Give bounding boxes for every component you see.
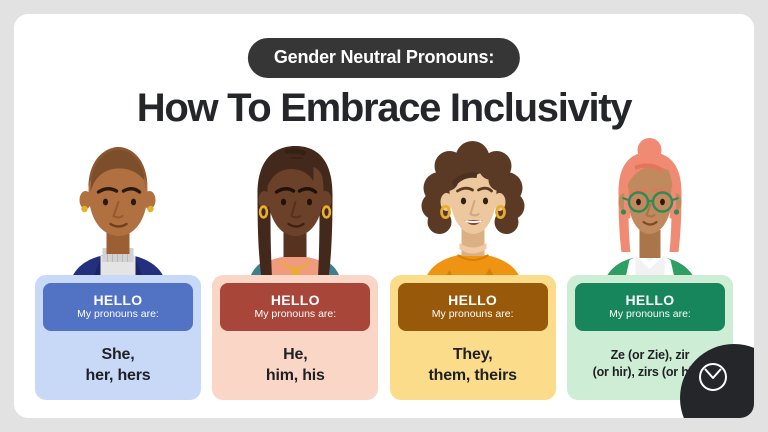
clock-icon	[696, 360, 730, 394]
subhead-label: My pronouns are:	[77, 309, 159, 321]
pronoun-line-1: He,	[220, 344, 370, 365]
pronoun-card-row: HELLO My pronouns are: She, her, hers	[32, 134, 736, 414]
pronoun-card: HELLO My pronouns are: She, her, hers	[35, 275, 201, 400]
hello-label: HELLO	[626, 293, 675, 309]
pronoun-line-2: them, theirs	[398, 365, 548, 386]
pronoun-text: They, them, theirs	[398, 344, 548, 386]
card-header: HELLO My pronouns are:	[43, 283, 193, 331]
subhead-label: My pronouns are:	[432, 309, 514, 321]
person-illustration-2	[228, 136, 363, 291]
pronoun-column-she: HELLO My pronouns are: She, her, hers	[32, 134, 204, 414]
card-header: HELLO My pronouns are:	[220, 283, 370, 331]
hello-label: HELLO	[94, 293, 143, 309]
pronoun-column-they: HELLO My pronouns are: They, them, their…	[387, 134, 559, 414]
hello-label: HELLO	[448, 293, 497, 309]
person-illustration-3	[405, 136, 540, 291]
person-illustration-1	[51, 136, 186, 291]
card-header: HELLO My pronouns are:	[575, 283, 725, 331]
page-title: How To Embrace Inclusivity	[14, 86, 754, 131]
pronoun-line-1: They,	[398, 344, 548, 365]
hello-label: HELLO	[271, 293, 320, 309]
pronoun-card: HELLO My pronouns are: He, him, his	[212, 275, 378, 400]
pronoun-card: HELLO My pronouns are: They, them, their…	[390, 275, 556, 400]
slide-canvas: Gender Neutral Pronouns: How To Embrace …	[14, 14, 754, 418]
pronoun-line-1: She,	[43, 344, 193, 365]
person-illustration-4	[582, 136, 717, 291]
card-header: HELLO My pronouns are:	[398, 283, 548, 331]
pronoun-line-2: him, his	[220, 365, 370, 386]
page-eyebrow-badge: Gender Neutral Pronouns:	[248, 38, 520, 78]
pronoun-text: She, her, hers	[43, 344, 193, 386]
pronoun-text: He, him, his	[220, 344, 370, 386]
pronoun-column-he: HELLO My pronouns are: He, him, his	[209, 134, 381, 414]
subhead-label: My pronouns are:	[609, 309, 691, 321]
pronoun-line-2: her, hers	[43, 365, 193, 386]
subhead-label: My pronouns are:	[254, 309, 336, 321]
